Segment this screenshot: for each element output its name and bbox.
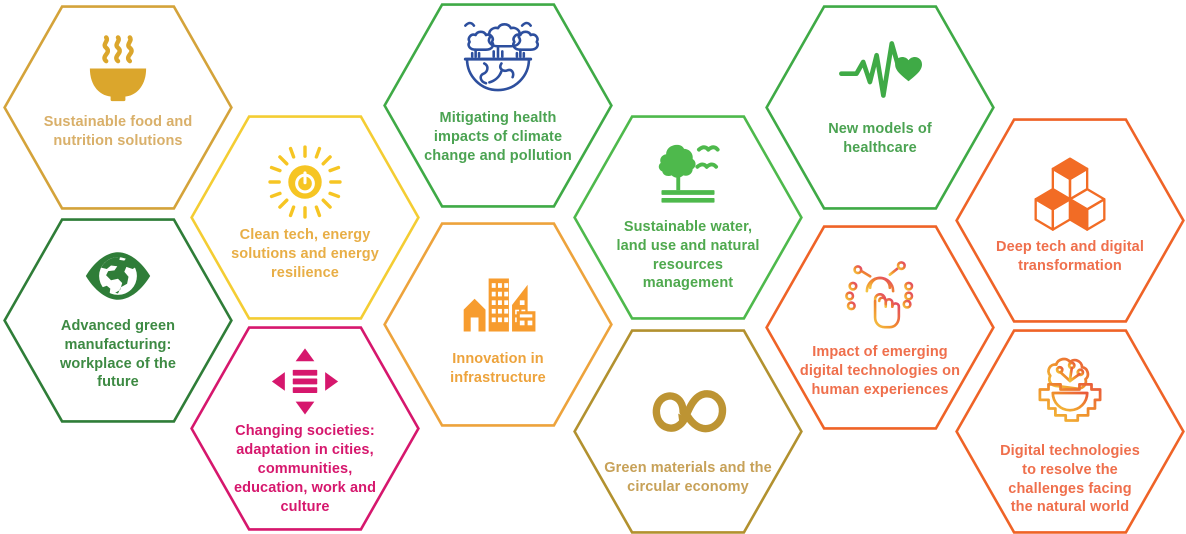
hexagon-label: Sustainable food and nutrition solutions bbox=[28, 113, 209, 151]
heartbeat-pulse-icon bbox=[838, 30, 922, 114]
hexagon-label: Impact of emerging digital technologies … bbox=[784, 343, 976, 400]
hexagon-label: Sustainable water, land use and natural … bbox=[601, 218, 776, 293]
hand-touch-circuit-icon bbox=[839, 255, 921, 337]
hexagon-label: Innovation in infrastructure bbox=[434, 350, 562, 388]
hexagon-label: Green materials and the circular economy bbox=[588, 459, 788, 497]
hexagon-label: Digital technologies to resolve the chal… bbox=[984, 442, 1156, 517]
soup-bowl-icon bbox=[81, 33, 155, 107]
hexagon-label: Deep tech and digital transformation bbox=[980, 238, 1160, 276]
hexagon-content: Deep tech and digital transformation bbox=[955, 112, 1185, 317]
hexagon-label: Mitigating health impacts of climate cha… bbox=[408, 109, 588, 166]
tree-birds-ground-icon bbox=[649, 134, 727, 212]
hexagon-label: Clean tech, energy solutions and energy … bbox=[215, 226, 395, 283]
hexagon-diagram-canvas: Sustainable food and nutrition solutions… bbox=[0, 0, 1186, 534]
trees-over-globe-icon bbox=[455, 17, 541, 103]
infinity-loop-icon bbox=[647, 371, 729, 453]
sun-power-icon bbox=[267, 144, 343, 220]
gear-brain-circuit-icon bbox=[1027, 350, 1113, 436]
hexagon-label: Advanced green manufacturing: workplace … bbox=[44, 317, 192, 392]
eye-globe-icon bbox=[83, 241, 153, 311]
hexagon-content: Digital technologies to resolve the chal… bbox=[955, 331, 1185, 534]
hexagon-deep-tech-digital-transformation[interactable]: Deep tech and digital transformation bbox=[955, 118, 1185, 323]
hexagon-digital-tech-natural-world[interactable]: Digital technologies to resolve the chal… bbox=[955, 329, 1185, 534]
hexagon-label: Changing societies: adaptation in cities… bbox=[218, 422, 392, 516]
four-arrows-menu-icon bbox=[269, 344, 341, 416]
hexagon-label: New models of healthcare bbox=[812, 120, 948, 158]
isometric-cubes-icon bbox=[1031, 154, 1109, 232]
city-buildings-icon bbox=[459, 266, 537, 344]
